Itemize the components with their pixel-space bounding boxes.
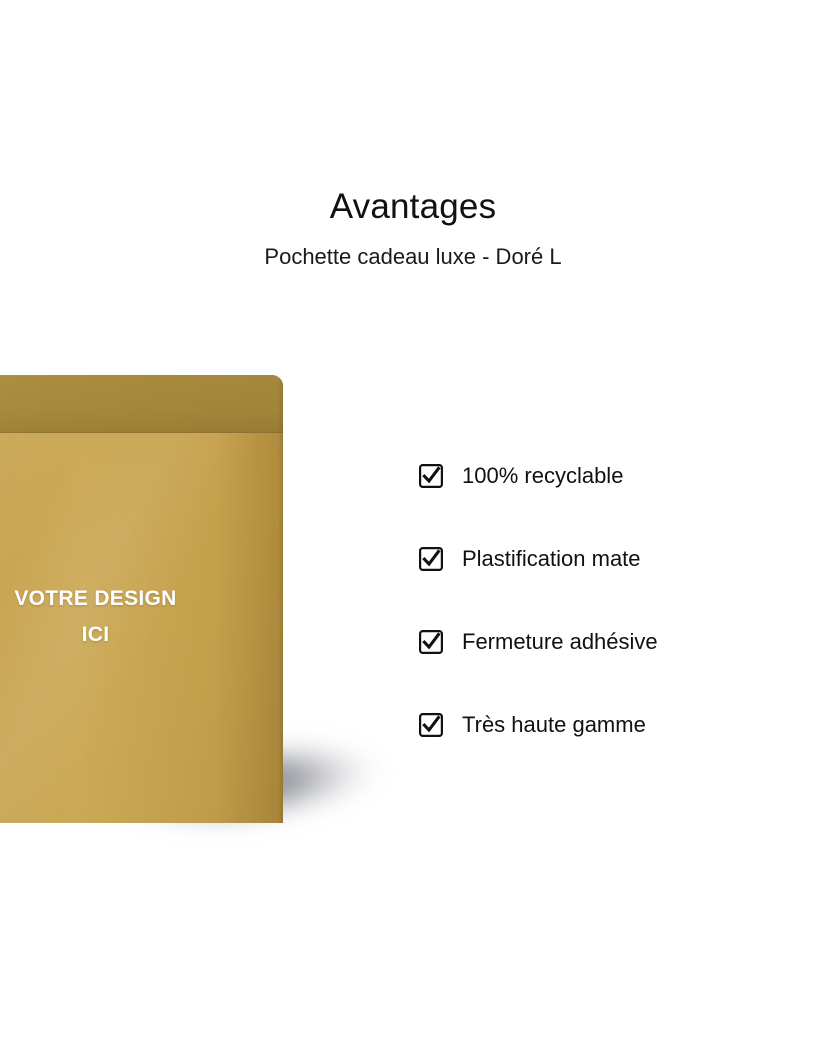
benefit-label: 100% recyclable — [462, 462, 623, 490]
design-placeholder-text: VOTRE DESIGN ICI — [0, 581, 283, 653]
bag-top-flap — [0, 375, 283, 433]
page-title: Avantages — [0, 186, 826, 228]
checked-checkbox-icon — [418, 546, 444, 572]
list-item: Plastification mate — [418, 541, 808, 577]
checked-checkbox-icon — [418, 463, 444, 489]
design-placeholder-line-1: VOTRE DESIGN — [14, 587, 176, 610]
page-subtitle: Pochette cadeau luxe - Doré L — [0, 228, 826, 270]
header: Avantages Pochette cadeau luxe - Doré L — [0, 186, 826, 270]
gift-bag-mockup: VOTRE DESIGN ICI — [0, 375, 283, 823]
benefit-label: Très haute gamme — [462, 711, 646, 739]
list-item: 100% recyclable — [418, 458, 808, 494]
benefits-list: 100% recyclable Plastification mate Ferm… — [418, 458, 808, 743]
list-item: Fermeture adhésive — [418, 624, 808, 660]
benefit-label: Fermeture adhésive — [462, 628, 658, 656]
design-placeholder-line-2: ICI — [0, 617, 283, 653]
list-item: Très haute gamme — [418, 707, 808, 743]
checked-checkbox-icon — [418, 629, 444, 655]
slide-canvas: Avantages Pochette cadeau luxe - Doré L … — [0, 0, 826, 1040]
benefit-label: Plastification mate — [462, 545, 641, 573]
checked-checkbox-icon — [418, 712, 444, 738]
